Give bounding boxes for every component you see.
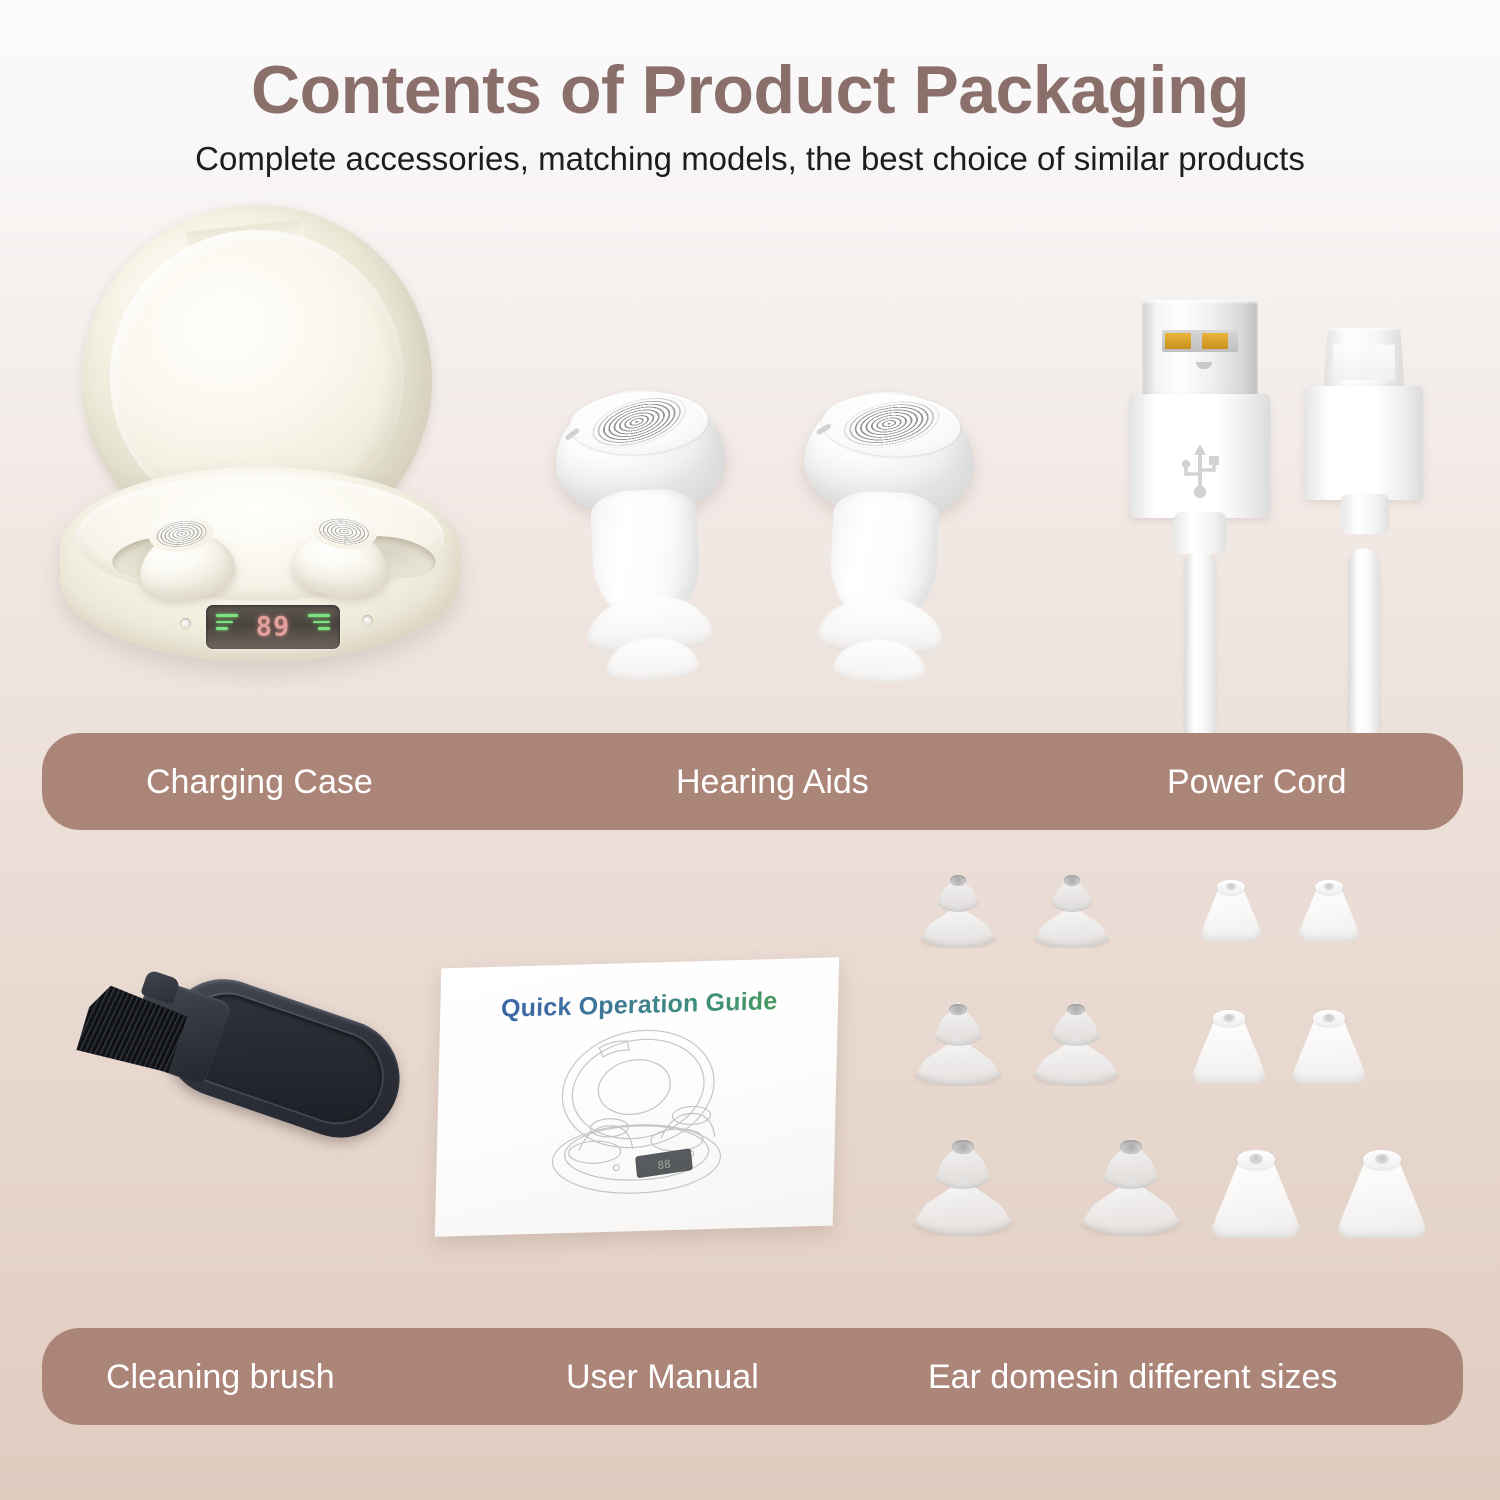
label-power-cord: Power Cord [1167,765,1347,799]
hearing-aid-in-case-left [132,509,239,608]
label-ear-domes: Ear domesin different sizes [928,1360,1337,1394]
page-subtitle: Complete accessories, matching models, t… [0,124,1500,175]
ear-dome-double-large [910,1138,1016,1236]
hearing-aid-in-case-right [289,507,395,604]
case-led-dot-right [362,615,373,626]
charging-case-rim: 89 [76,475,444,601]
micro-usb-housing [1305,386,1423,500]
charging-case-line-drawing: 88 [523,1022,757,1209]
ear-dome-single-medium [1192,1010,1266,1084]
lid-notch [185,219,306,263]
charging-case-image: 89 [60,205,460,700]
cable-left [1185,550,1215,740]
manual-cover: Quick Operation Guide [435,957,839,1236]
label-charging-case: Charging Case [146,765,373,799]
ear-dome-single-small [1200,880,1262,942]
usb-trident-icon [1176,440,1224,502]
label-band-bottom: Cleaning brush User Manual Ear domesin d… [42,1328,1463,1425]
header: Contents of Product Packaging Complete a… [0,0,1500,175]
ear-dome-double-medium [912,1002,1004,1086]
cleaning-brush [54,938,415,1212]
micro-usb-strain-relief [1341,494,1389,534]
page-title: Contents of Product Packaging [0,0,1500,124]
ear-dome-single-large [1338,1150,1426,1238]
cable-right [1349,548,1379,740]
usb-a-notch [1196,362,1212,369]
usb-a-contact-pin [1165,333,1191,349]
label-band-top: Charging Case Hearing Aids Power Cord [42,733,1463,830]
ear-dome-double-medium [1030,1002,1122,1086]
micro-usb-connector [1305,328,1423,553]
svg-text:88: 88 [657,1157,671,1172]
case-led-dot-left [180,618,191,629]
usb-a-metal-shell [1142,300,1258,398]
usb-a-connector [1130,300,1270,555]
usb-a-strain-relief [1174,512,1226,554]
hearing-aid-left [552,386,737,694]
ear-domes-image [910,870,1450,1270]
ear-dome-single-large [1212,1150,1300,1238]
battery-led-display: 89 [206,605,340,649]
ear-dome-double-small [1032,874,1112,948]
label-user-manual: User Manual [566,1360,759,1394]
ear-dome-single-medium [1292,1010,1366,1084]
ear-dome-double-small [918,874,998,948]
ear-dome-single-small [1298,880,1360,942]
cleaning-brush-image [55,965,415,1230]
ear-dome-double-large [1078,1138,1184,1236]
product-packaging-infographic: Contents of Product Packaging Complete a… [0,0,1500,1500]
user-manual-image: Quick Operation Guide [430,955,850,1255]
manual-cover-title: Quick Operation Guide [440,985,839,1025]
label-cleaning-brush: Cleaning brush [106,1360,335,1394]
label-hearing-aids: Hearing Aids [676,765,869,799]
usb-a-contact-pin [1202,333,1228,349]
power-cord-image [1090,300,1440,735]
battery-bars-right-icon [304,614,330,640]
hearing-aids-image [560,390,1000,700]
hearing-aid-right [792,388,977,696]
charging-case-base: 89 [60,467,460,662]
